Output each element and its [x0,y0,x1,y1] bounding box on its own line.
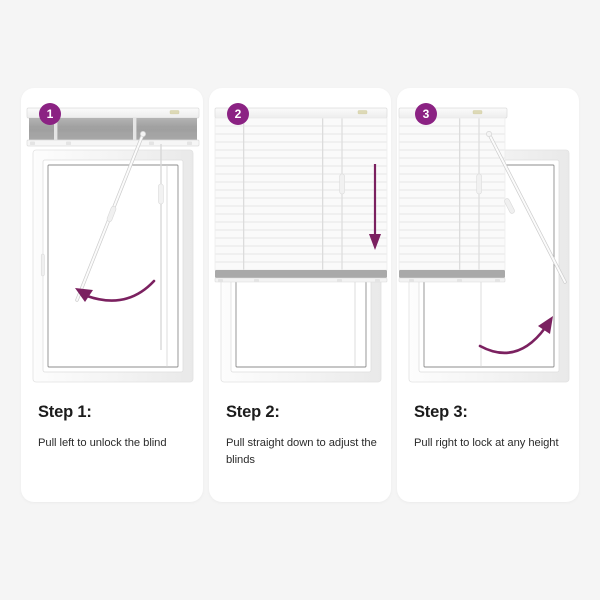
step-card-3: 3 [397,88,579,502]
blind-slats-3 [399,118,505,270]
step-title-3: Step 3: [414,403,566,422]
step-title-1: Step 1: [38,403,190,422]
step-description-2: Pull straight down to adjust the blinds [226,435,378,468]
step-illustration-3 [397,88,579,388]
step-text-2: Step 2: Pull straight down to adjust the… [226,403,378,468]
window-frame-1 [33,150,193,382]
blind-bottom-rail-3 [399,270,505,282]
step-text-3: Step 3: Pull right to lock at any height [414,403,566,452]
step-title-2: Step 2: [226,403,378,422]
step-illustration-2 [209,88,391,388]
blind-slats-2 [215,118,387,270]
blind-bottom-rail-2 [215,270,387,282]
step-text-1: Step 1: Pull left to unlock the blind [38,403,190,452]
step-illustration-1 [21,88,203,388]
step-description-3: Pull right to lock at any height [414,435,566,452]
step-badge-1: 1 [39,103,61,125]
step-description-1: Pull left to unlock the blind [38,435,190,452]
step-card-1: 1 [21,88,203,502]
instruction-diagram: 1 [0,0,600,600]
step-card-2: 2 [209,88,391,502]
step-badge-2: 2 [227,103,249,125]
step-badge-3: 3 [415,103,437,125]
